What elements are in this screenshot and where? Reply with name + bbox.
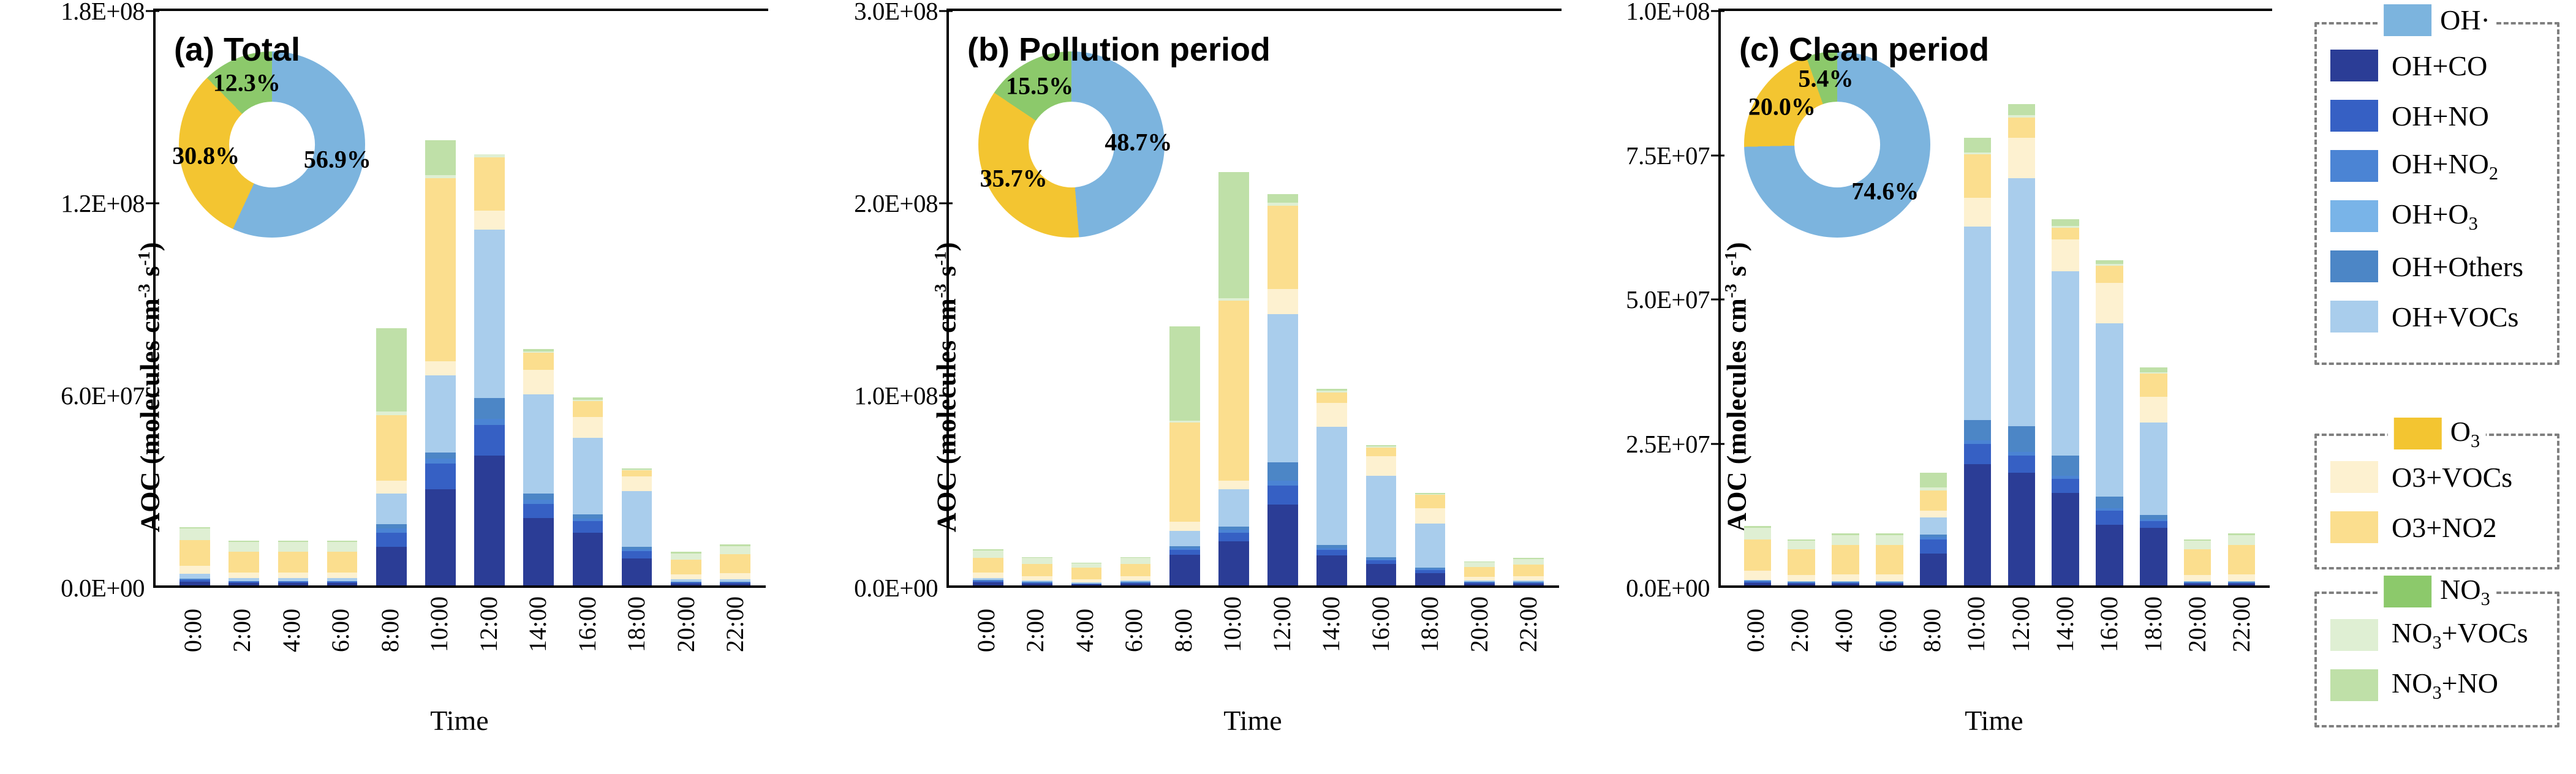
bar-segment [1832,574,1859,581]
stacked-bar[interactable] [229,541,259,585]
x-tick-slot: 20:00 [1454,596,1504,652]
bar-segment [376,524,407,529]
bar-segment [179,574,210,579]
stacked-bar[interactable] [1513,558,1544,585]
bar-slot [2131,11,2175,585]
bar-segment [573,521,603,532]
bar-slot [514,11,563,585]
bar-slot [1356,11,1405,585]
bar-segment [573,417,603,438]
bar-segment [1920,554,1947,585]
bar-slot [613,11,662,585]
bar-segment [2052,493,2079,585]
bar-segment [1513,576,1544,580]
bar-segment [425,178,456,361]
x-tick-label: 10:00 [425,596,453,652]
bar-segment [1876,545,1903,574]
bar-segment [1513,565,1544,576]
x-tick-label: 2:00 [1785,596,1814,652]
x-tick-slot: 2:00 [217,596,267,652]
bar-segment [1876,535,1903,546]
stacked-bar[interactable] [425,140,456,585]
stacked-bar[interactable] [2096,260,2123,585]
bar-segment [1267,194,1298,203]
bar-segment [622,551,652,558]
bar-segment [1832,535,1859,546]
bar-segment [1920,473,1947,487]
bar-segment [2140,367,2167,372]
legend-swatch [2330,50,2378,81]
bar-segment [474,157,505,210]
bar-segment [2228,584,2256,585]
stacked-bar[interactable] [1267,194,1298,585]
stacked-bar[interactable] [2140,367,2167,585]
bar-segment [1744,571,1772,579]
donut-slice-label: 48.7% [1105,127,1172,156]
bar-segment [671,560,701,574]
plot-area-a: 56.9%30.8%12.3% [153,11,766,588]
x-tick-label: 12:00 [1267,596,1296,652]
x-tick-label: 8:00 [1917,596,1946,652]
bar-segment [2008,426,2036,452]
legend-item-label: O3+VOCs [2392,461,2512,494]
bar-segment [2096,511,2123,525]
y-tick-label: 0.0E+00 [1626,573,1710,603]
bar-segment [573,438,603,515]
x-tick-slot: 0:00 [168,596,217,652]
stacked-bar[interactable] [2228,533,2256,585]
x-axis-ticks-a: 0:002:004:006:008:0010:0012:0014:0016:00… [153,596,766,652]
aoc-figure: AOC (molecules cm-3 s-1) 0.0E+006.0E+071… [0,0,2576,774]
bar-segment [523,518,554,585]
bar-segment [229,552,259,573]
bar-segment [2184,575,2212,580]
legend-item-label: NO3+VOCs [2392,617,2528,653]
bar-slot [1911,11,1955,585]
x-tick-label: 10:00 [1962,596,1990,652]
legend-header-nitrate-radical[interactable]: NO3 [2378,573,2496,610]
bar-segment [1218,489,1249,527]
legend-swatch [2330,461,2378,493]
bar-segment [474,398,505,419]
legend-item-oh-no[interactable]: OH+NO [2317,91,2557,141]
stacked-bar[interactable] [1920,473,1947,585]
x-tick-slot: 2:00 [1011,596,1060,652]
x-tick-slot: 22:00 [2219,596,2264,652]
stacked-bar[interactable] [622,468,652,585]
bar-segment [973,573,1003,578]
bar-segment [2228,574,2256,581]
bar-segment [573,401,603,417]
legend-item-label: OH+O3 [2392,198,2478,235]
bar-segment [523,504,554,519]
x-tick-slot: 8:00 [1910,596,1954,652]
bar-segment [2052,456,2079,476]
x-tick-label: 6:00 [326,596,355,652]
stacked-bar[interactable] [973,549,1003,585]
bar-segment [2184,541,2212,549]
bar-segment [179,582,210,585]
stacked-bar[interactable] [1744,526,1772,585]
bar-segment [2140,374,2167,397]
x-tick-slot: 10:00 [415,596,464,652]
bar-segment [2096,283,2123,323]
bar-segment [1366,564,1397,585]
bar-segment [2096,266,2123,283]
donut-slice-label: 15.5% [1006,71,1073,100]
x-tick-label: 4:00 [277,596,306,652]
legend-swatch [2330,669,2378,701]
bar-segment [1464,584,1495,585]
bar-segment [2228,535,2256,546]
x-tick-label: 18:00 [1415,596,1444,652]
y-tick-label: 0.0E+00 [61,573,145,603]
bar-segment [1316,555,1347,585]
bar-segment [2008,104,2036,116]
x-tick-label: 8:00 [376,596,404,652]
legend: OH·OH+COOH+NOOH+NO2OH+O3OH+OthersOH+VOCs… [2303,5,2573,715]
stacked-bar[interactable] [1366,445,1397,585]
stacked-bar[interactable] [1788,539,1815,585]
legend-item-oh-co[interactable]: OH+CO [2317,40,2557,91]
bar-segment [2052,228,2079,239]
bar-segment [2140,521,2167,528]
bar-segment [1169,522,1200,532]
bar-segment [278,583,309,585]
bar-segment [720,546,750,554]
bar-segment [1366,448,1397,456]
bar-segment [1788,584,1815,585]
stacked-bar[interactable] [1218,172,1249,585]
bar-segment [1267,486,1298,505]
x-tick-slot: 14:00 [1307,596,1356,652]
bar-segment [1218,172,1249,298]
x-tick-slot: 14:00 [513,596,563,652]
bar-segment [523,394,554,494]
legend-item-o3-no2[interactable]: O3+NO2 [2317,502,2557,552]
stacked-bar[interactable] [1964,138,1992,585]
bar-segment [376,533,407,547]
donut-slice-label: 20.0% [1748,92,1816,121]
bar-segment [1316,427,1347,545]
x-tick-slot: 14:00 [2042,596,2087,652]
x-tick-slot: 0:00 [1733,596,1777,652]
bar-segment [1022,576,1052,580]
x-tick-slot: 6:00 [316,596,366,652]
x-tick-slot: 8:00 [365,596,415,652]
stacked-bar[interactable] [1876,533,1903,585]
bar-slot [1406,11,1455,585]
bar-segment [573,533,603,585]
x-tick-label: 12:00 [474,596,503,652]
bar-segment [229,542,259,552]
legend-swatch [2394,418,2442,449]
bar-segment [2096,525,2123,585]
bar-segment [2008,118,2036,138]
legend-header-ozone[interactable]: O3 [2388,415,2486,452]
bar-segment [1022,584,1052,585]
bar-segment [671,554,701,560]
bar-segment [622,558,652,585]
x-tick-slot: 12:00 [1257,596,1307,652]
x-tick-label: 10:00 [1218,596,1247,652]
legend-item-label: O3+NO2 [2392,511,2497,544]
bar-segment [2008,178,2036,426]
bar-segment [1169,531,1200,546]
bar-segment [1267,481,1298,486]
bar-segment [327,542,358,552]
y-tick-label: 1.8E+08 [61,0,145,26]
bar-segment [1071,584,1102,585]
bar-segment [2140,397,2167,423]
x-tick-slot: 16:00 [1356,596,1405,652]
bar-segment [622,491,652,547]
legend-item-o3-vocs[interactable]: O3+VOCs [2317,452,2557,502]
stacked-bar[interactable] [376,328,407,585]
legend-item-oh-o3[interactable]: OH+O3 [2317,191,2557,241]
legend-item-label: OH+VOCs [2392,301,2518,333]
bar-segment [622,476,652,491]
x-tick-slot: 10:00 [1954,596,1998,652]
stacked-bar[interactable] [523,349,554,585]
y-axis-ticks-b: 0.0E+001.0E+082.0E+083.0E+08 [796,11,946,588]
bar-segment [1788,541,1815,549]
bar-segment [1920,490,1947,511]
bar-segment [376,547,407,585]
x-axis-title-b: Time [946,704,1559,737]
stacked-bar[interactable] [327,541,358,585]
legend-group-nitrate-radical: NO3NO3+VOCsNO3+NO [2314,592,2559,727]
legend-swatch [2384,576,2431,607]
legend-group-ozone: O3O3+VOCsO3+NO2 [2314,434,2559,569]
bar-segment [1744,528,1772,539]
bar-slot [2219,11,2264,585]
bar-segment [720,584,750,585]
legend-item-oh-no2[interactable]: OH+NO2 [2317,141,2557,191]
bar-segment [1464,562,1495,567]
bar-segment [1744,583,1772,585]
x-tick-slot: 4:00 [1060,596,1109,652]
bar-slot [1955,11,2000,585]
y-axis-ticks-a: 0.0E+006.0E+071.2E+081.8E+08 [0,11,153,588]
x-tick-label: 4:00 [1070,596,1099,652]
x-tick-label: 14:00 [523,596,552,652]
bar-segment [1920,539,1947,554]
bar-segment [425,453,456,459]
bar-segment [1920,511,1947,517]
x-tick-label: 12:00 [2006,596,2035,652]
bar-segment [425,361,456,376]
legend-item-label: OH+NO [2392,100,2489,132]
x-tick-slot: 12:00 [464,596,513,652]
x-tick-slot: 12:00 [1998,596,2042,652]
bar-segment [376,328,407,411]
panel-a-total: AOC (molecules cm-3 s-1) 0.0E+006.0E+071… [0,0,796,774]
bar-slot [2000,11,2044,585]
bar-slot [711,11,760,585]
bar-segment [1415,573,1446,585]
panel-b-pollution: AOC (molecules cm-3 s-1) 0.0E+001.0E+082… [796,0,1587,774]
bar-segment [1267,206,1298,290]
donut-slice-label: 12.3% [213,68,281,97]
legend-item-label: NO3+NO [2392,667,2498,704]
bar-segment [1876,574,1903,581]
bar-segment [2052,479,2079,494]
x-tick-slot: 18:00 [1405,596,1455,652]
stacked-bar[interactable] [1169,326,1200,585]
bar-segment [1267,314,1298,462]
stacked-bar[interactable] [1120,557,1151,585]
x-tick-slot: 16:00 [2087,596,2131,652]
bar-segment [1267,462,1298,481]
bar-segment [1876,584,1903,585]
bar-segment [1120,584,1151,585]
stacked-bar[interactable] [1832,533,1859,585]
stacked-bar[interactable] [1022,557,1052,585]
bar-segment [425,375,456,453]
bar-segment [1964,420,1992,440]
stacked-bar[interactable] [1464,562,1495,585]
x-tick-slot: 22:00 [1504,596,1554,652]
bar-segment [1920,517,1947,535]
y-tick-label: 6.0E+07 [61,381,145,410]
x-tick-label: 0:00 [972,596,1000,652]
x-axis-ticks-c: 0:002:004:006:008:0010:0012:0014:0016:00… [1718,596,2270,652]
x-tick-label: 14:00 [1316,596,1345,652]
stacked-bar[interactable] [2008,104,2036,586]
bar-segment [2052,219,2079,226]
stacked-bar[interactable] [179,527,210,585]
x-tick-slot: 20:00 [2175,596,2219,652]
bar-segment [2052,271,2079,456]
bar-slot [1160,11,1209,585]
bar-slot [2175,11,2219,585]
bar-slot [1258,11,1307,585]
stacked-bar[interactable] [671,552,701,585]
x-tick-slot: 22:00 [711,596,760,652]
bar-slot [416,11,465,585]
stacked-bar[interactable] [2052,219,2079,585]
y-tick-label: 2.0E+08 [854,189,938,218]
x-tick-label: 6:00 [1119,596,1148,652]
x-tick-label: 2:00 [1021,596,1049,652]
x-tick-label: 16:00 [2094,596,2123,652]
bar-segment [1316,393,1347,403]
x-tick-label: 20:00 [2183,596,2212,652]
bar-segment [1366,456,1397,475]
donut-hole [229,102,315,187]
bar-segment [474,230,505,398]
bar-segment [376,481,407,494]
bar-segment [1218,481,1249,489]
x-tick-label: 18:00 [2139,596,2167,652]
bar-segment [720,573,750,579]
bar-segment [1022,564,1052,576]
stacked-bar[interactable] [278,541,309,585]
legend-header-label: O3 [2450,415,2480,452]
stacked-bar[interactable] [573,397,603,585]
legend-swatch [2330,511,2378,543]
stacked-bar[interactable] [1316,389,1347,585]
bar-segment [474,211,505,230]
x-tick-slot: 0:00 [961,596,1011,652]
bar-segment [1832,584,1859,585]
legend-item-no3-no[interactable]: NO3+NO [2317,660,2557,710]
bar-segment [376,494,407,524]
stacked-bar[interactable] [720,544,750,585]
bar-segment [1366,476,1397,557]
bar-segment [1316,403,1347,427]
legend-item-no3-vocs[interactable]: NO3+VOCs [2317,610,2557,660]
panel-title-a: (a) Total [174,31,300,69]
bar-slot [2044,11,2088,585]
bar-slot [662,11,711,585]
bar-segment [671,584,701,585]
bar-segment [278,542,309,552]
bar-segment [671,574,701,579]
stacked-bar[interactable] [1071,563,1102,585]
bar-slot [1504,11,1553,585]
bar-segment [720,554,750,573]
panel-title-b: (b) Pollution period [967,31,1271,69]
legend-header-oh-radical[interactable]: OH· [2378,4,2496,36]
legend-item-oh-vocs[interactable]: OH+VOCs [2317,291,2557,342]
x-tick-slot: 8:00 [1158,596,1208,652]
bar-segment [327,583,358,585]
donut-slice-label: 30.8% [172,141,240,170]
bar-segment [229,583,259,585]
bar-segment [1071,568,1102,579]
bar-segment [1964,154,1992,198]
bar-segment [1120,558,1151,563]
legend-header-label: NO3 [2440,573,2490,610]
bar-segment [474,419,505,425]
x-tick-slot: 18:00 [2131,596,2175,652]
bar-segment [1218,541,1249,585]
legend-swatch [2330,200,2378,232]
legend-item-oh-others[interactable]: OH+Others [2317,241,2557,291]
y-tick-label: 3.0E+08 [854,0,938,26]
stacked-bar[interactable] [1415,493,1446,585]
bar-segment [1964,464,1992,585]
bar-segment [229,573,259,578]
x-tick-label: 20:00 [671,596,700,652]
stacked-bar[interactable] [2184,539,2212,585]
bar-slot [1307,11,1356,585]
bar-segment [523,353,554,370]
bar-segment [1218,301,1249,481]
bar-segment [1218,533,1249,541]
x-tick-slot: 16:00 [562,596,612,652]
bar-segment [327,552,358,573]
bar-segment [2228,545,2256,574]
bar-slot [367,11,416,585]
donut-slice-label: 74.6% [1851,177,1919,206]
bar-segment [1788,549,1815,575]
bar-segment [2184,584,2212,585]
legend-swatch [2330,619,2378,651]
bar-segment [1415,495,1446,508]
stacked-bar[interactable] [474,154,505,585]
legend-swatch [2330,301,2378,333]
bar-segment [1169,326,1200,421]
legend-header-label: OH· [2440,4,2490,36]
bar-segment [425,489,456,585]
bar-segment [1071,563,1102,568]
y-tick-label: 5.0E+07 [1626,285,1710,314]
x-tick-label: 14:00 [2050,596,2079,652]
bar-segment [973,582,1003,585]
